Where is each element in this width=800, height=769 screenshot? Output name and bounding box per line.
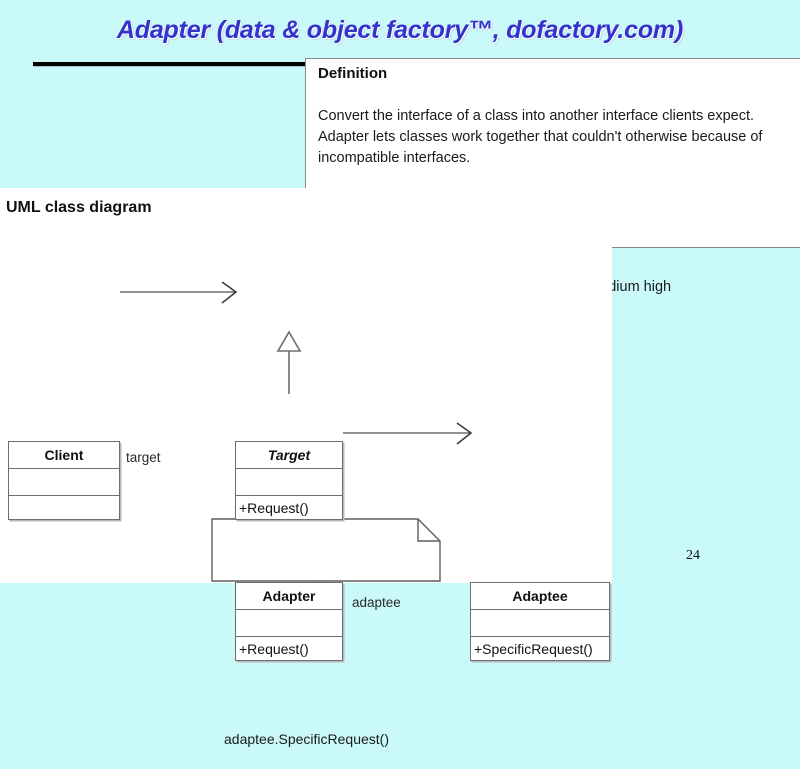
uml-class-operations-client xyxy=(9,496,119,521)
uml-note-text: adaptee.SpecificRequest() xyxy=(224,731,389,747)
edge-label-target: target xyxy=(126,450,161,465)
uml-class-adapter[interactable]: Adapter +Request() xyxy=(235,582,343,661)
uml-connectors xyxy=(0,188,612,583)
uml-class-name-target: Target xyxy=(236,442,342,469)
uml-diagram-panel: UML class diagram Client Targ xyxy=(0,188,612,583)
diagram-caption: UML class diagram xyxy=(6,199,152,217)
uml-class-target[interactable]: Target +Request() xyxy=(235,441,343,520)
uml-class-operations-adapter: +Request() xyxy=(236,637,342,662)
uml-class-operations-target: +Request() xyxy=(236,496,342,521)
uml-class-attributes-adapter xyxy=(236,610,342,637)
page-number: 24 xyxy=(686,548,700,564)
uml-class-adaptee[interactable]: Adaptee +SpecificRequest() xyxy=(470,582,610,661)
uml-class-client[interactable]: Client xyxy=(8,441,120,520)
uml-class-attributes-adaptee xyxy=(471,610,609,637)
slide-canvas: Adapter (data & object factory™, dofacto… xyxy=(0,0,800,600)
uml-class-attributes-client xyxy=(9,469,119,496)
definition-body-text: Convert the interface of a class into an… xyxy=(318,106,794,169)
edge-label-adaptee: adaptee xyxy=(352,595,401,610)
uml-class-attributes-target xyxy=(236,469,342,496)
uml-class-name-adaptee: Adaptee xyxy=(471,583,609,610)
definition-heading: Definition xyxy=(318,65,387,82)
page-title: Adapter (data & object factory™, dofacto… xyxy=(0,16,800,45)
uml-class-name-client: Client xyxy=(9,442,119,469)
uml-class-operations-adaptee: +SpecificRequest() xyxy=(471,637,609,662)
uml-class-name-adapter: Adapter xyxy=(236,583,342,610)
uml-note[interactable]: adaptee.SpecificRequest() xyxy=(212,707,440,769)
